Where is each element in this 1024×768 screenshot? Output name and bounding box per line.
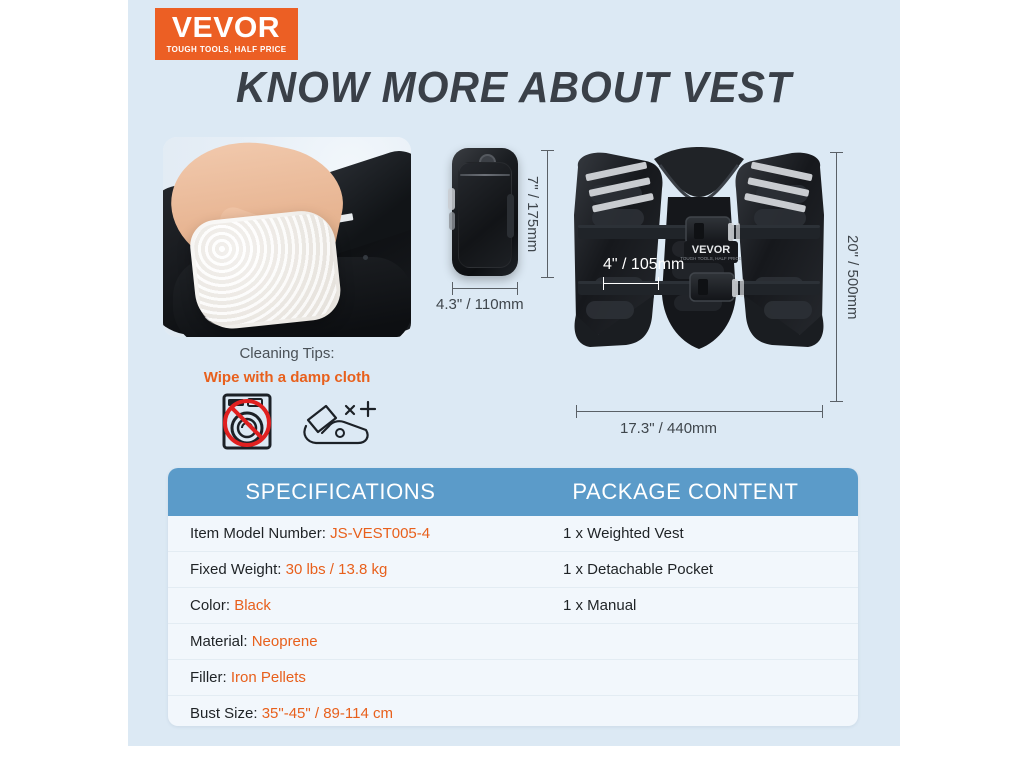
specs-table: SPECIFICATIONS PACKAGE CONTENT Item Mode… [168,468,858,726]
spec-value: JS-VEST005-4 [330,525,430,542]
vest-strap-label: 4" / 105mm [603,256,684,274]
cleaning-tips-label: Cleaning Tips: [163,345,411,362]
pocket-height-line [547,150,548,278]
package-cell: 1 x Weighted Vest [513,525,858,542]
vest-height-cap-bottom [830,401,843,402]
brand-tagline: TOUGH TOOLS, HALF PRICE [166,46,286,54]
vest-strap-cap-left [603,277,604,290]
no-washing-machine-icon [208,392,286,450]
spec-cell: Material: Neoprene [168,633,513,650]
photo-cloth [188,208,344,333]
vest-width-label: 17.3" / 440mm [620,420,717,437]
package-cell: 1 x Manual [513,597,858,614]
spec-label: Fixed Weight: [190,561,281,578]
spec-cell: Item Model Number: JS-VEST005-4 [168,525,513,542]
detachable-pocket-image [452,148,518,276]
spec-value: Black [234,597,271,614]
vest-height-label: 20" / 500mm [844,235,861,320]
spec-cell: Filler: Iron Pellets [168,669,513,686]
vest-width-cap-left [576,405,577,418]
pocket-height-cap-bottom [541,277,554,278]
brand-name: VEVOR [172,14,280,43]
vest-width-cap-right [822,405,823,418]
pocket-side-panel [507,194,514,238]
vest-width-line [576,411,823,412]
table-body: Item Model Number: JS-VEST005-4 1 x Weig… [168,516,858,726]
pocket-height-cap-top [541,150,554,151]
photo-stitch [363,255,368,260]
spec-label: Color: [190,597,230,614]
cleaning-photo [163,137,411,337]
pocket-width-line [452,288,518,289]
table-row: Fixed Weight: 30 lbs / 13.8 kg 1 x Detac… [168,551,858,587]
spec-cell: Color: Black [168,597,513,614]
pocket-zipper [460,174,510,176]
package-cell: 1 x Detachable Pocket [513,561,858,578]
spec-value: 35"-45" / 89-114 cm [262,705,393,722]
spec-label: Item Model Number: [190,525,326,542]
table-header-row: SPECIFICATIONS PACKAGE CONTENT [168,468,858,516]
spec-label: Bust Size: [190,705,258,722]
page-title: KNOW MORE ABOUT VEST [155,66,873,110]
spec-label: Material: [190,633,248,650]
spec-cell: Bust Size: 35"-45" / 89-114 cm [168,705,513,722]
pocket-width-cap-left [452,282,453,295]
vest-strap-line [603,283,659,284]
spec-value: Iron Pellets [231,669,306,686]
pocket-width-label: 4.3" / 110mm [436,296,524,313]
vevor-logo: VEVOR TOUGH TOOLS, HALF PRICE [155,8,298,60]
pocket-zipper-pull [448,188,455,210]
cleaning-tips-instruction: Wipe with a damp cloth [163,369,411,386]
vest-logo-text: VEVOR [692,244,731,256]
table-row: Color: Black 1 x Manual [168,587,858,623]
spec-value: Neoprene [252,633,318,650]
pocket-zipper-pull [449,212,455,230]
pocket-front-panel [458,162,512,268]
vest-strap-cap-right [658,277,659,290]
infographic-page: VEVOR TOUGH TOOLS, HALF PRICE KNOW MORE … [0,0,1024,768]
wipe-with-cloth-icon [296,396,384,448]
table-row: Bust Size: 35"-45" / 89-114 cm [168,695,858,726]
header-specifications: SPECIFICATIONS [168,468,513,516]
table-row: Filler: Iron Pellets [168,659,858,695]
vest-height-cap-top [830,152,843,153]
pocket-height-label: 7" / 175mm [524,176,541,252]
svg-text:TOUGH TOOLS, HALF PRICE: TOUGH TOOLS, HALF PRICE [680,256,742,261]
vest-height-line [836,152,837,402]
spec-value: 30 lbs / 13.8 kg [286,561,388,578]
spec-label: Filler: [190,669,227,686]
spec-cell: Fixed Weight: 30 lbs / 13.8 kg [168,561,513,578]
table-row: Material: Neoprene [168,623,858,659]
table-row: Item Model Number: JS-VEST005-4 1 x Weig… [168,516,858,551]
pocket-width-cap-right [517,282,518,295]
header-package-content: PACKAGE CONTENT [513,468,858,516]
